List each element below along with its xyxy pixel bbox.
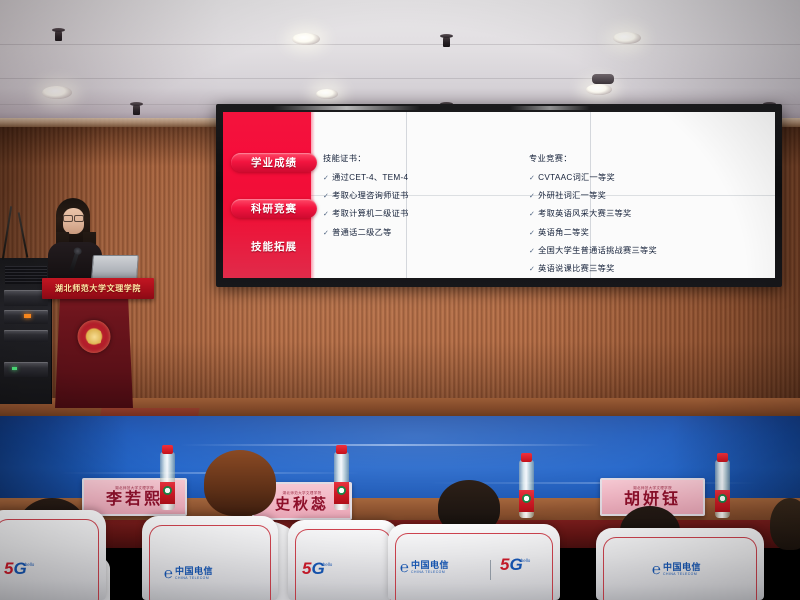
check-icon: ✓ <box>529 193 535 200</box>
china-telecom-cn: 中国电信 <box>663 563 701 572</box>
chair-logo-china-telecom: ℮ 中国电信 CHINA TELECOM <box>164 566 213 581</box>
ceiling-mount <box>592 74 614 84</box>
ceiling-downlight <box>316 89 338 99</box>
ceiling-downlight <box>586 84 612 95</box>
logo-5g-hello: hello <box>25 562 35 567</box>
bottle-cap <box>717 453 728 462</box>
logo-5g-hello: hello <box>521 558 531 563</box>
slide-bullet: ✓考取计算机二级证书 <box>323 207 409 219</box>
audience-chair: ℮ 中国电信 CHINA TELECOM <box>142 516 278 600</box>
china-telecom-en: CHINA TELECOM <box>175 576 213 580</box>
china-telecom-cn: 中国电信 <box>175 567 213 576</box>
bottle-label <box>519 490 534 512</box>
slide-tab-label: 学业成绩 <box>251 155 297 170</box>
slide-tab-academic: 学业成绩 <box>231 153 317 172</box>
chair-logo-china-telecom: ℮ 中国电信 CHINA TELECOM <box>652 562 701 577</box>
slide-bullet: ✓外研社词汇一等奖 <box>529 189 694 201</box>
water-bottle <box>334 452 349 510</box>
chair-logo-5g: 5 G hello <box>500 558 530 572</box>
check-icon: ✓ <box>529 248 535 255</box>
china-telecom-mark-icon: ℮ <box>400 560 409 575</box>
slide-tab-research: 科研竞赛 <box>231 199 317 218</box>
status-led <box>12 367 17 370</box>
slide-bullet: ✓通过CET-4、TEM-4 <box>323 171 409 183</box>
sprinkler-head <box>443 36 450 47</box>
water-bottle <box>519 460 534 518</box>
check-icon: ✓ <box>529 230 535 237</box>
bottle-label <box>160 482 175 504</box>
chair-logo-china-telecom: ℮ 中国电信 CHINA TELECOM <box>400 560 449 575</box>
slide-bullet: ✓全国大学生普通话挑战赛三等奖 <box>529 244 694 256</box>
audience-chair: 5 G hello <box>288 520 398 600</box>
glasses-icon <box>63 215 84 220</box>
ceiling-downlight <box>292 33 320 45</box>
china-telecom-en: CHINA TELECOM <box>411 570 449 574</box>
slide-tab-skills: 技能拓展 <box>231 237 317 256</box>
logo-5g-five: 5 <box>4 562 13 576</box>
chair-logo-5g: 5 G hello <box>4 562 34 576</box>
slide-bullet: ✓CVTAAC词汇一等奖 <box>529 171 694 183</box>
led-screen-frame: 学业成绩 科研竞赛 技能拓展 技能证书： ✓通过CET-4、TEM-4 ✓考取心… <box>216 104 782 287</box>
slide-bullet: ✓英语说课比赛三等奖 <box>529 262 694 274</box>
check-icon: ✓ <box>323 230 329 237</box>
check-icon: ✓ <box>323 211 329 218</box>
column-heading: 专业竞赛： <box>529 152 694 164</box>
slide-tab-label: 科研竞赛 <box>251 201 297 216</box>
slide-bullet: ✓考取心理咨询师证书 <box>323 189 409 201</box>
presentation-slide: 学业成绩 科研竞赛 技能拓展 技能证书： ✓通过CET-4、TEM-4 ✓考取心… <box>223 112 775 278</box>
slide-column-certificates: 技能证书： ✓通过CET-4、TEM-4 ✓考取心理咨询师证书 ✓考取计算机二级… <box>323 152 409 244</box>
bottle-cap <box>521 453 532 462</box>
check-icon: ✓ <box>529 266 535 273</box>
slide-bullet: ✓英语角二等奖 <box>529 226 694 238</box>
bottle-cap <box>336 445 347 454</box>
laptop <box>91 255 139 279</box>
check-icon: ✓ <box>323 175 329 182</box>
logo-5g-five: 5 <box>500 558 509 572</box>
ceiling-downlight <box>42 86 72 99</box>
audience-head <box>204 450 276 516</box>
name-card-org: 湖北师范大学文理学院 <box>283 491 322 496</box>
china-telecom-mark-icon: ℮ <box>164 566 173 581</box>
bottle-label <box>715 490 730 512</box>
chair-logo-5g: 5 G hello <box>302 562 332 576</box>
university-crest-icon <box>78 320 111 353</box>
slide-bullet: ✓普通话二级乙等 <box>323 226 409 238</box>
audience-chair: ℮ 中国电信 CHINA TELECOM <box>596 528 764 600</box>
auditorium-photo: 学业成绩 科研竞赛 技能拓展 技能证书： ✓通过CET-4、TEM-4 ✓考取心… <box>0 0 800 600</box>
slide-bullet: ✓考取英语风采大赛三等奖 <box>529 207 694 219</box>
check-icon: ✓ <box>529 175 535 182</box>
water-bottle <box>160 452 175 510</box>
logo-5g-hello: hello <box>323 562 333 567</box>
sprinkler-head <box>133 104 140 115</box>
podium-banner: 湖北师范大学文理学院 <box>42 278 154 299</box>
status-led <box>24 314 31 318</box>
water-bottle <box>715 460 730 518</box>
audience-head <box>770 498 800 550</box>
bottle-cap <box>162 445 173 454</box>
sprinkler-head <box>55 30 62 41</box>
ceiling-downlight <box>613 32 641 44</box>
podium-banner-text: 湖北师范大学文理学院 <box>55 283 141 294</box>
audience-chair: ℮ 中国电信 CHINA TELECOM 5 G hello <box>388 524 560 600</box>
check-icon: ✓ <box>529 211 535 218</box>
china-telecom-en: CHINA TELECOM <box>663 572 701 576</box>
slide-tab-label: 技能拓展 <box>251 239 297 254</box>
podium <box>55 286 133 408</box>
logo-5g-five: 5 <box>302 562 311 576</box>
china-telecom-cn: 中国电信 <box>411 561 449 570</box>
name-card-name: 史秋蕊 <box>275 497 329 512</box>
bottle-label <box>334 482 349 504</box>
column-heading: 技能证书： <box>323 152 409 164</box>
china-telecom-mark-icon: ℮ <box>652 562 661 577</box>
name-card-name: 李若熙 <box>106 492 163 508</box>
check-icon: ✓ <box>323 193 329 200</box>
slide-column-competitions: 专业竞赛： ✓CVTAAC词汇一等奖 ✓外研社词汇一等奖 ✓考取英语风采大赛三等… <box>529 152 694 278</box>
audience-chair: 5 G hello <box>0 510 106 600</box>
